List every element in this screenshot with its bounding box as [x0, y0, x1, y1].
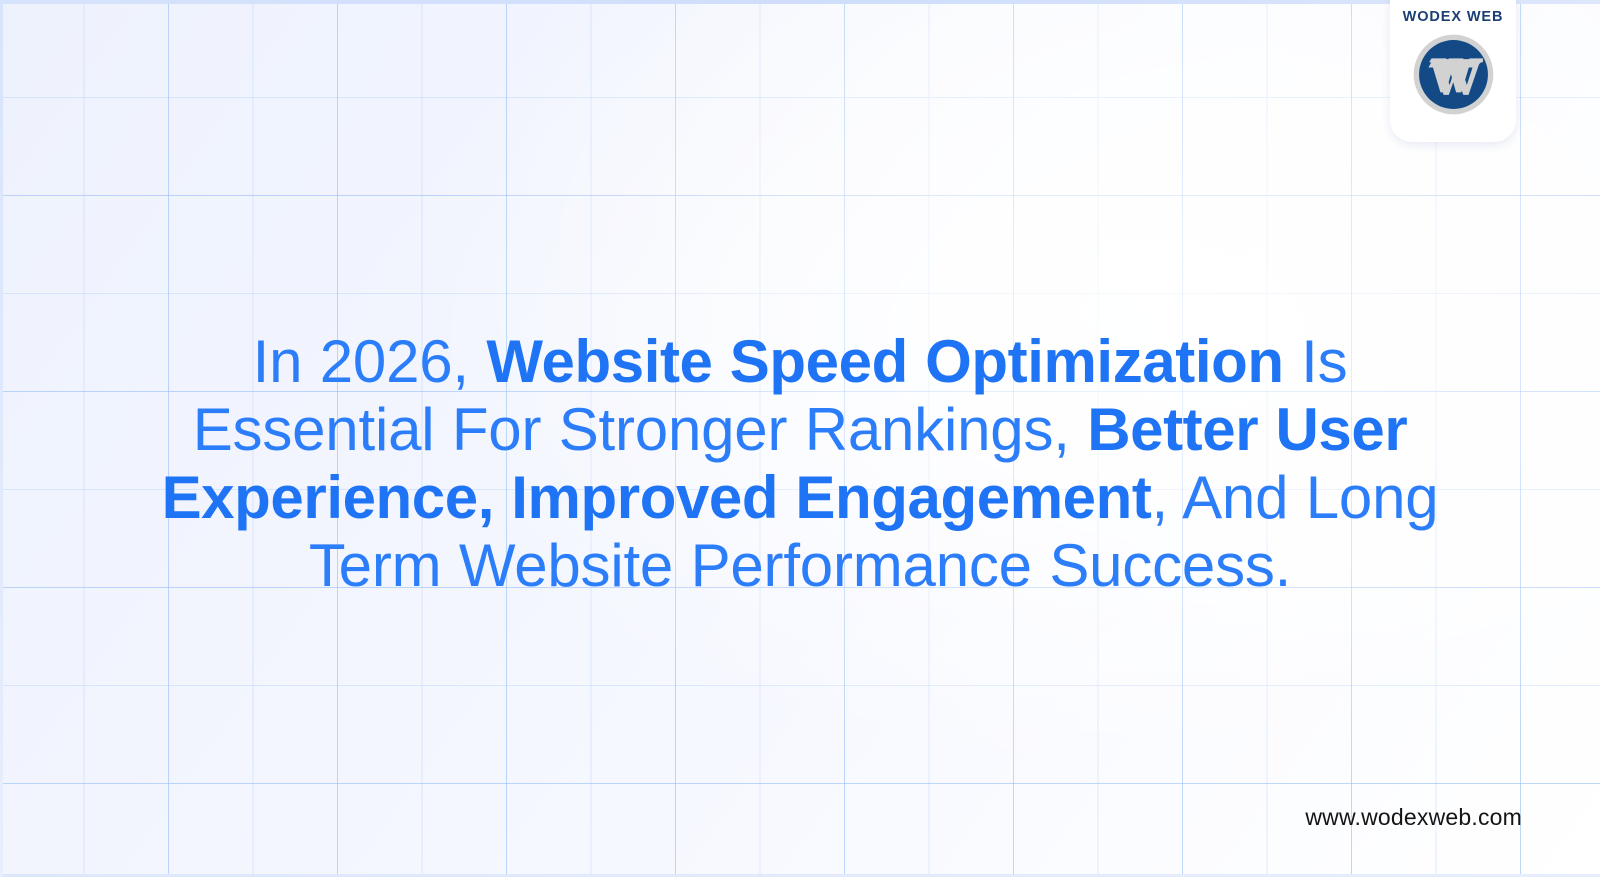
page-title: In 2026, Website Speed Optimization Is E…	[125, 328, 1475, 600]
website-url[interactable]: www.wodexweb.com	[1305, 804, 1522, 831]
headline-container: In 2026, Website Speed Optimization Is E…	[0, 288, 1600, 640]
headline-segment-0: In 2026,	[253, 328, 487, 395]
wordpress-w-icon	[1412, 33, 1495, 116]
promo-poster: WODEX WEB In 2026, Website Speed Optimiz…	[0, 0, 1600, 877]
top-edge-border	[0, 0, 1600, 4]
headline-segment-1: Website Speed Optimization	[486, 328, 1283, 395]
brand-wordmark: WODEX WEB	[1403, 9, 1504, 25]
brand-logo-badge[interactable]: WODEX WEB	[1390, 0, 1516, 142]
